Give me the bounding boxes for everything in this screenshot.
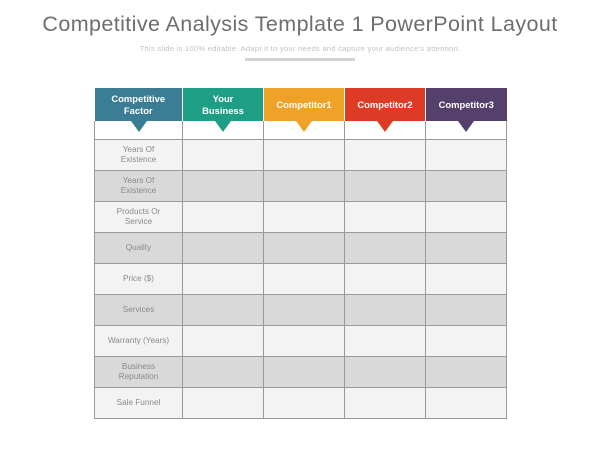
value-cell[interactable] xyxy=(426,388,507,419)
value-cell[interactable] xyxy=(183,357,264,388)
value-cell[interactable] xyxy=(183,171,264,202)
value-cell[interactable] xyxy=(183,295,264,326)
table-row: Services xyxy=(95,295,507,326)
value-cell[interactable] xyxy=(183,388,264,419)
value-cell[interactable] xyxy=(264,140,345,171)
value-cell[interactable] xyxy=(426,140,507,171)
value-cell[interactable] xyxy=(264,264,345,295)
table-row: Business Reputation xyxy=(95,357,507,388)
table-header: Competitive FactorYour BusinessCompetito… xyxy=(95,88,507,121)
factor-label-cell[interactable]: Quality xyxy=(95,233,183,264)
value-cell[interactable] xyxy=(345,388,426,419)
triangle-down-icon xyxy=(377,121,393,132)
factor-label-cell[interactable]: Sale Funnel xyxy=(95,388,183,419)
table-row: Warranty (Years) xyxy=(95,326,507,357)
factor-label-cell[interactable]: Products Or Service xyxy=(95,202,183,233)
factor-label-cell[interactable]: Years Of Existence xyxy=(95,140,183,171)
table-row: Products Or Service xyxy=(95,202,507,233)
value-cell[interactable] xyxy=(426,357,507,388)
value-cell[interactable] xyxy=(345,357,426,388)
table-row: Sale Funnel xyxy=(95,388,507,419)
slide-subtitle: This slide is 100% editable. Adapt it to… xyxy=(0,44,600,53)
triangle-down-icon xyxy=(131,121,147,132)
value-cell[interactable] xyxy=(426,264,507,295)
slide-header: Competitive Analysis Template 1 PowerPoi… xyxy=(0,0,600,61)
value-cell[interactable] xyxy=(426,326,507,357)
value-cell[interactable] xyxy=(264,326,345,357)
factor-label-cell[interactable]: Business Reputation xyxy=(95,357,183,388)
value-cell[interactable] xyxy=(183,202,264,233)
value-cell[interactable] xyxy=(264,171,345,202)
table-body: Years Of ExistenceYears Of ExistenceProd… xyxy=(95,140,507,419)
value-cell[interactable] xyxy=(345,171,426,202)
column-header-5[interactable]: Competitor3 xyxy=(426,88,507,121)
value-cell[interactable] xyxy=(345,264,426,295)
value-cell[interactable] xyxy=(264,233,345,264)
column-header-label: Competitive Factor xyxy=(98,93,180,115)
column-header-label: Competitor3 xyxy=(429,99,504,110)
value-cell[interactable] xyxy=(426,233,507,264)
value-cell[interactable] xyxy=(345,326,426,357)
value-cell[interactable] xyxy=(264,202,345,233)
factor-label-cell[interactable]: Price ($) xyxy=(95,264,183,295)
value-cell[interactable] xyxy=(183,140,264,171)
column-header-3[interactable]: Competitor1 xyxy=(264,88,345,121)
table-row: Price ($) xyxy=(95,264,507,295)
value-cell[interactable] xyxy=(426,202,507,233)
column-header-label: Competitor2 xyxy=(348,99,422,110)
pointer-cell-3 xyxy=(264,121,345,140)
value-cell[interactable] xyxy=(183,326,264,357)
value-cell[interactable] xyxy=(183,264,264,295)
pointer-cell-2 xyxy=(183,121,264,140)
table-header-row: Competitive FactorYour BusinessCompetito… xyxy=(95,88,507,121)
column-header-2[interactable]: Your Business xyxy=(183,88,264,121)
factor-label-cell[interactable]: Years Of Existence xyxy=(95,171,183,202)
table-row: Quality xyxy=(95,233,507,264)
column-header-label: Competitor1 xyxy=(267,99,341,110)
factor-label-cell[interactable]: Warranty (Years) xyxy=(95,326,183,357)
competitive-analysis-table-wrapper: Competitive FactorYour BusinessCompetito… xyxy=(94,88,506,419)
page-title: Competitive Analysis Template 1 PowerPoi… xyxy=(0,11,600,37)
pointer-spacer-body xyxy=(95,121,507,140)
value-cell[interactable] xyxy=(426,295,507,326)
title-divider xyxy=(245,58,355,61)
column-header-label: Your Business xyxy=(186,93,260,115)
triangle-down-icon xyxy=(296,121,312,132)
column-header-1[interactable]: Competitive Factor xyxy=(95,88,183,121)
factor-label-cell[interactable]: Services xyxy=(95,295,183,326)
table-row: Years Of Existence xyxy=(95,171,507,202)
pointer-row xyxy=(95,121,507,140)
competitive-analysis-table: Competitive FactorYour BusinessCompetito… xyxy=(94,88,507,419)
pointer-cell-1 xyxy=(95,121,183,140)
value-cell[interactable] xyxy=(264,295,345,326)
pointer-cell-4 xyxy=(345,121,426,140)
value-cell[interactable] xyxy=(345,202,426,233)
slide-canvas: Competitive Analysis Template 1 PowerPoi… xyxy=(0,0,600,450)
pointer-cell-5 xyxy=(426,121,507,140)
value-cell[interactable] xyxy=(426,171,507,202)
triangle-down-icon xyxy=(215,121,231,132)
value-cell[interactable] xyxy=(264,357,345,388)
value-cell[interactable] xyxy=(345,140,426,171)
value-cell[interactable] xyxy=(183,233,264,264)
value-cell[interactable] xyxy=(345,233,426,264)
value-cell[interactable] xyxy=(264,388,345,419)
triangle-down-icon xyxy=(458,121,474,132)
column-header-4[interactable]: Competitor2 xyxy=(345,88,426,121)
table-row: Years Of Existence xyxy=(95,140,507,171)
value-cell[interactable] xyxy=(345,295,426,326)
